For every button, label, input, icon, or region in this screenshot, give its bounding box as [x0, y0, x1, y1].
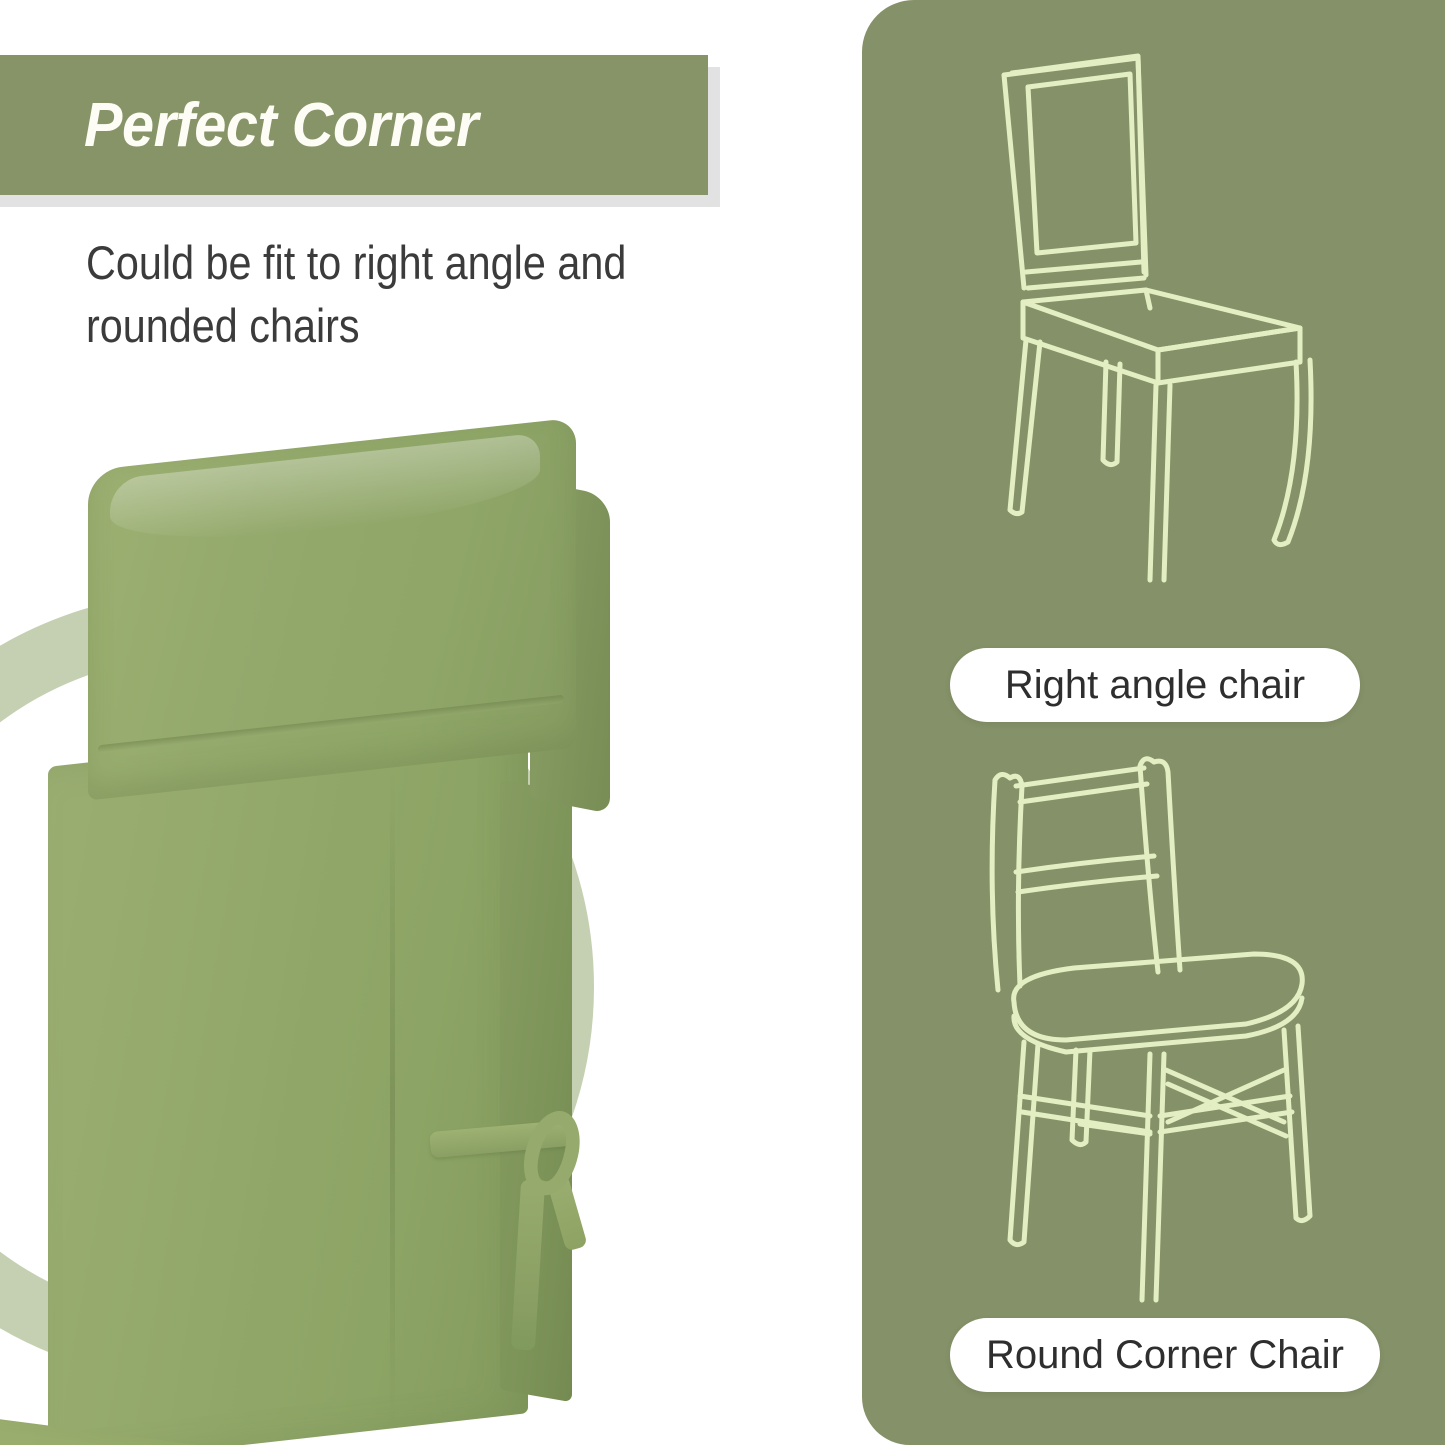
title-banner: Perfect Corner — [0, 55, 708, 195]
cushion-back-panel — [48, 713, 528, 1445]
chair-label-right-angle: Right angle chair — [950, 648, 1360, 722]
chair-label-round-corner: Round Corner Chair — [950, 1318, 1380, 1392]
left-content-column: Perfect Corner Could be fit to right ang… — [0, 0, 862, 1445]
chair-label-right-angle-text: Right angle chair — [1005, 663, 1305, 708]
page-title: Perfect Corner — [84, 90, 478, 161]
chair-types-panel: Right angle chair — [862, 0, 1445, 1445]
cushion-back-fold — [390, 772, 395, 1433]
subtitle-text: Could be fit to right angle and rounded … — [86, 232, 755, 357]
round-corner-chair-icon — [954, 740, 1354, 1320]
infographic-canvas: Perfect Corner Could be fit to right ang… — [0, 0, 1445, 1445]
right-angle-chair-icon — [960, 40, 1360, 600]
chair-label-round-corner-text: Round Corner Chair — [986, 1333, 1344, 1378]
cushion-product-image — [0, 420, 660, 1445]
